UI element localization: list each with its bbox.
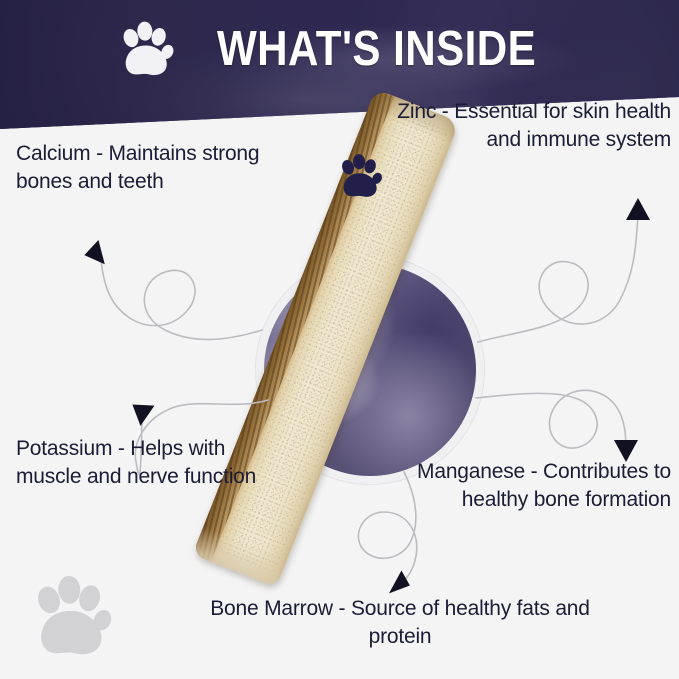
arrowhead-bone-marrow xyxy=(389,569,411,595)
connector-manganese xyxy=(476,390,626,448)
paw-print-icon xyxy=(336,152,384,200)
arrowhead-zinc xyxy=(626,198,650,220)
connector-zinc xyxy=(478,215,638,342)
connector-calcium xyxy=(100,250,262,339)
paw-print-icon xyxy=(117,19,175,79)
page-title: WHAT'S INSIDE xyxy=(217,21,536,77)
arrowhead-calcium xyxy=(83,238,110,265)
callout-manganese: Manganese - Contributes to healthy bone … xyxy=(381,458,671,513)
callout-calcium: Calcium - Maintains strong bones and tee… xyxy=(16,140,296,195)
callout-bone-marrow: Bone Marrow - Source of healthy fats and… xyxy=(210,595,590,650)
arrowhead-potassium xyxy=(130,403,155,428)
callout-zinc: Zinc - Essential for skin health and imm… xyxy=(371,98,671,153)
paw-print-icon xyxy=(28,572,114,660)
callout-potassium: Potassium - Helps with muscle and nerve … xyxy=(16,435,286,490)
header-content: WHAT'S INSIDE xyxy=(0,0,679,97)
infographic-canvas: WHAT'S INSIDE xyxy=(0,0,679,679)
